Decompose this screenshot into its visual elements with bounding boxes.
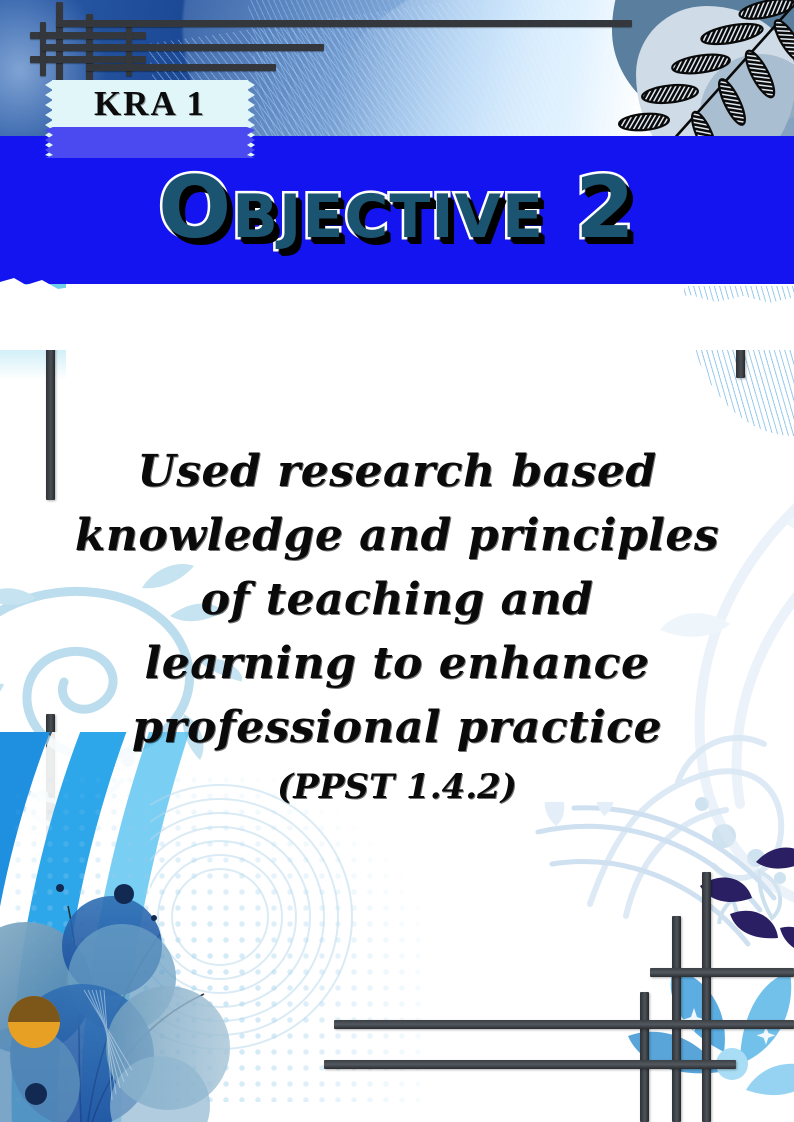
objective-line: Used research based: [70, 440, 724, 504]
badge-zigzag-right-icon: [247, 80, 256, 158]
objective-poster: Objective 2 KRA 1: [0, 0, 794, 1122]
grid-bars-icon: [564, 872, 794, 1122]
objective-line: professional practice: [70, 696, 724, 760]
kra-badge: KRA 1: [52, 80, 248, 158]
objective-line: learning to enhance: [70, 632, 724, 696]
torn-paper-edge-icon: [0, 258, 794, 350]
objective-line: knowledge and principles: [70, 504, 724, 568]
objective-statement: Used research based knowledge and princi…: [70, 440, 724, 814]
kra-badge-bottom: [52, 127, 248, 158]
ppst-reference: (PPST 1.4.2): [70, 760, 724, 814]
abstract-flower-icon: [0, 870, 294, 1122]
objective-line: of teaching and: [70, 568, 724, 632]
kra-badge-label: KRA 1: [52, 81, 248, 126]
page-title: Objective 2: [0, 156, 794, 260]
